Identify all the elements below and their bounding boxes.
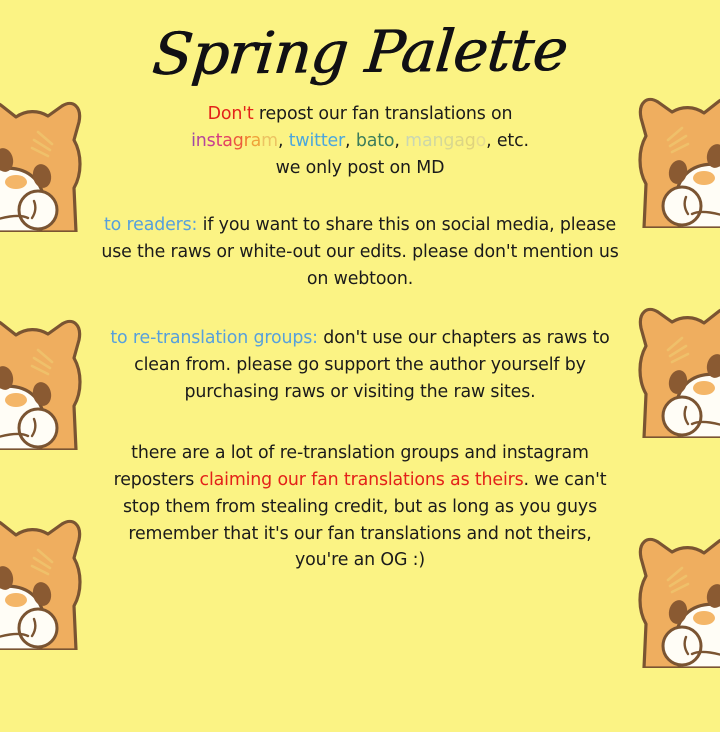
paragraph-to-readers: to readers: if you want to share this on… — [100, 212, 620, 293]
paragraph-credit-notice: there are a lot of re-translation groups… — [100, 440, 620, 575]
mangago-label: mangago — [405, 131, 486, 151]
to-retranslation-groups-heading: to re-translation groups: — [110, 328, 317, 348]
only-post-md-text: we only post on MD — [276, 158, 445, 178]
spring-palette-notice-card: Spring Palette Don't repost our fan tran… — [0, 0, 720, 732]
separator-comma-3: , — [394, 131, 405, 151]
bato-label: bato — [356, 131, 395, 151]
separator-comma-1: , — [278, 131, 289, 151]
repost-text: repost our fan translations on — [254, 104, 513, 124]
paragraph-to-retranslation-groups: to re-translation groups: don't use our … — [100, 325, 620, 406]
dont-warning-text: Don't — [208, 104, 254, 124]
page-title: Spring Palette — [97, 19, 623, 85]
separator-etc: , etc. — [486, 131, 529, 151]
notice-content: Spring Palette Don't repost our fan tran… — [0, 0, 720, 574]
separator-comma-2: , — [345, 131, 356, 151]
twitter-label: twitter — [289, 131, 345, 151]
to-readers-heading: to readers: — [104, 215, 197, 235]
instagram-label: instagram — [191, 131, 278, 151]
paragraph-dont-repost: Don't repost our fan translations on ins… — [100, 101, 620, 182]
claiming-highlight-text: claiming our fan translations as theirs — [200, 470, 524, 490]
